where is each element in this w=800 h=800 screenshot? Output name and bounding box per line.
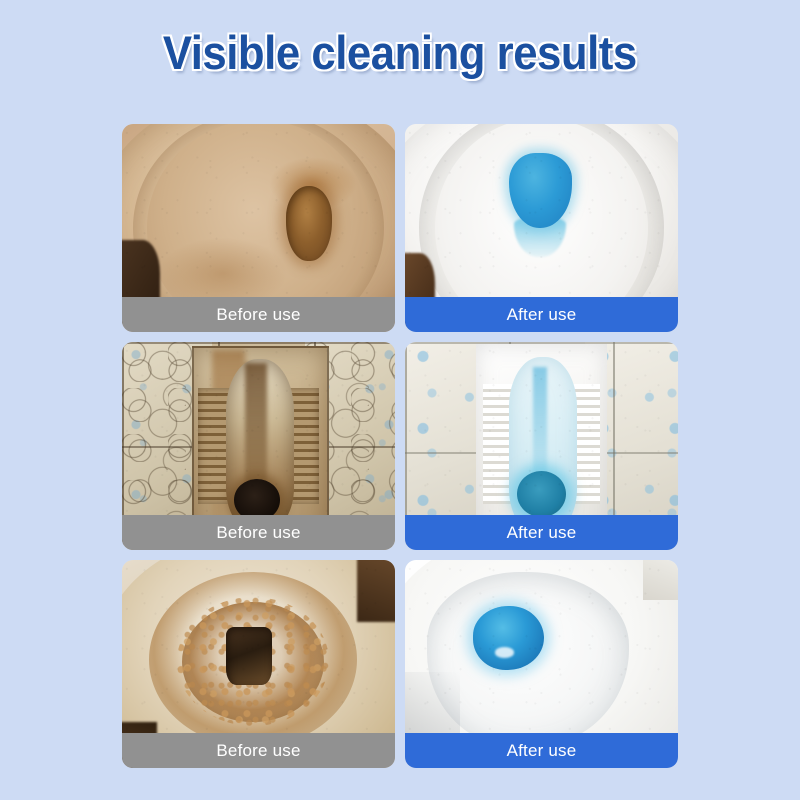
label-text: After use [507, 741, 577, 761]
page-title-container: Visible cleaning results [0, 28, 800, 78]
comparison-card-after-3[interactable]: After use [405, 560, 678, 768]
label-text: After use [507, 523, 577, 543]
label-text: Before use [216, 523, 300, 543]
comparison-card-before-3[interactable]: Before use [122, 560, 395, 768]
comparison-card-before-1[interactable]: Before use [122, 124, 395, 332]
comparison-grid: Before use After use [122, 124, 678, 769]
page-title: Visible cleaning results [163, 28, 637, 78]
comparison-card-after-2[interactable]: After use [405, 342, 678, 550]
label-text: Before use [216, 305, 300, 325]
label-after-3: After use [405, 733, 678, 768]
label-text: After use [507, 305, 577, 325]
label-after-2: After use [405, 515, 678, 550]
label-before-2: Before use [122, 515, 395, 550]
label-before-3: Before use [122, 733, 395, 768]
comparison-card-before-2[interactable]: Before use [122, 342, 395, 550]
comparison-card-after-1[interactable]: After use [405, 124, 678, 332]
label-before-1: Before use [122, 297, 395, 332]
label-text: Before use [216, 741, 300, 761]
label-after-1: After use [405, 297, 678, 332]
